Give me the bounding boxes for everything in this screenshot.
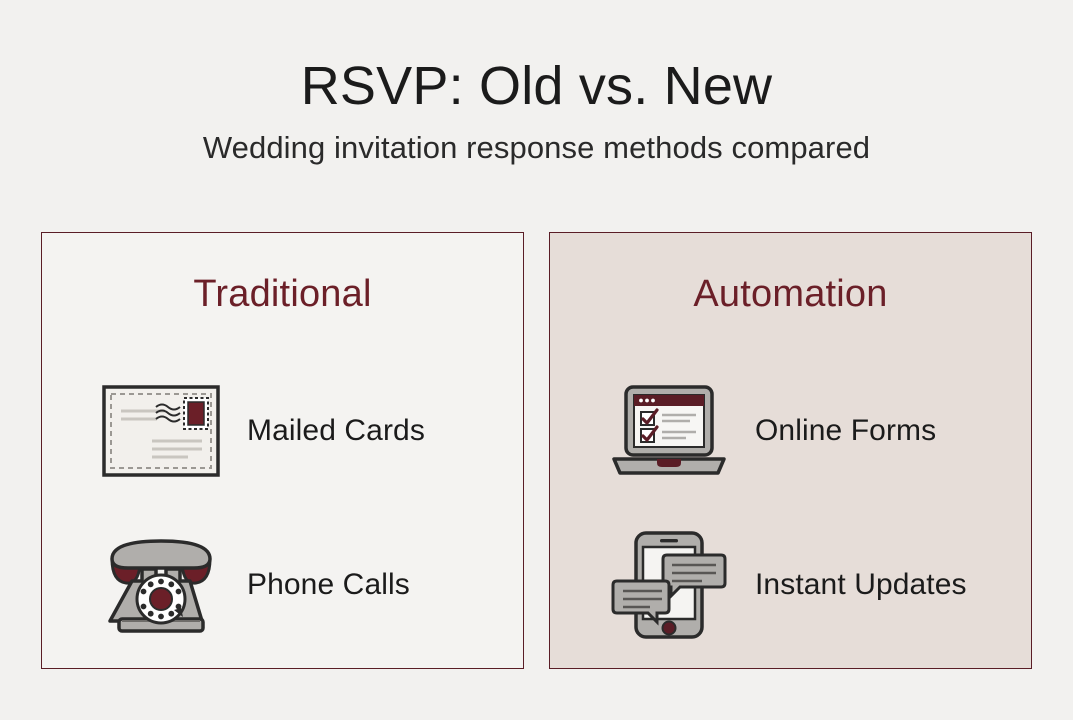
page-subtitle: Wedding invitation response methods comp… — [0, 130, 1073, 166]
rotary-telephone-icon — [100, 530, 222, 640]
automation-item-list: Online Forms — [550, 354, 1031, 662]
traditional-item-list: Mailed Cards — [42, 354, 523, 662]
panel-heading-automation: Automation — [693, 273, 887, 316]
list-item-label: Phone Calls — [247, 568, 410, 602]
list-item-label: Online Forms — [755, 414, 936, 448]
laptop-checklist-icon — [608, 376, 730, 486]
page-title: RSVP: Old vs. New — [0, 56, 1073, 116]
list-item: Mailed Cards — [42, 354, 523, 508]
list-item: Instant Updates — [550, 508, 1031, 662]
comparison-panels: Traditional — [41, 232, 1032, 669]
list-item-label: Mailed Cards — [247, 414, 425, 448]
panel-traditional: Traditional — [41, 232, 524, 669]
list-item: Online Forms — [550, 354, 1031, 508]
smartphone-chat-icon — [608, 530, 730, 640]
list-item: Phone Calls — [42, 508, 523, 662]
page-header: RSVP: Old vs. New Wedding invitation res… — [0, 0, 1073, 166]
list-item-label: Instant Updates — [755, 568, 967, 602]
panel-heading-traditional: Traditional — [193, 273, 371, 316]
panel-automation: Automation — [549, 232, 1032, 669]
envelope-with-stamp-icon — [100, 376, 222, 486]
